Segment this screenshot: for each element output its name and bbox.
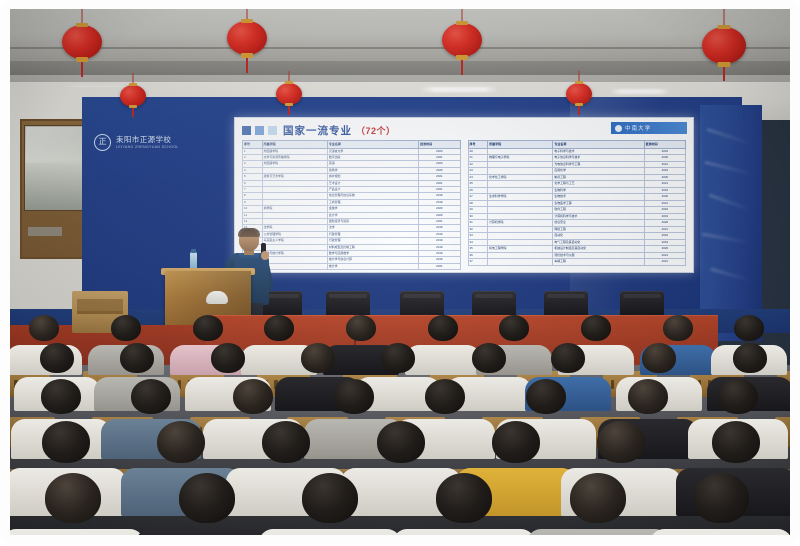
audience-member-head — [120, 343, 154, 373]
audience-member-head — [733, 343, 767, 373]
door-push-plate[interactable] — [28, 227, 62, 236]
audience-member-shoulders — [405, 345, 481, 375]
audience-member-head — [663, 315, 693, 341]
audience-member-head — [179, 473, 235, 523]
cell-college — [262, 263, 327, 269]
audience-member-head — [45, 473, 101, 523]
audience-member-head — [436, 473, 492, 523]
audience-member-head — [211, 343, 245, 373]
col-college: 所属学院 — [488, 141, 553, 149]
col-year: 批准时间 — [644, 141, 685, 149]
chair-slot — [611, 380, 614, 389]
audience-member-head — [570, 473, 626, 523]
projection-screen: 国家一流专业 （72个） 中南大学 序号 所属学院 专业名称 批准时间 — [234, 117, 694, 273]
audience-member-head — [718, 379, 758, 414]
ceiling-light-strip — [610, 89, 670, 94]
school-logo-en: LEIYANG ZHENGYUAN SCHOOL — [116, 144, 179, 150]
school-logo: 正 耒阳市正源学校 LEIYANG ZHENGYUAN SCHOOL — [94, 129, 204, 155]
col-college: 所属学院 — [262, 141, 327, 149]
audience-member-head — [526, 379, 566, 414]
audience-member-head — [41, 379, 81, 414]
audience-member-head — [499, 315, 529, 341]
col-major: 专业名称 — [327, 141, 418, 149]
table-header-row: 序号 所属学院 专业名称 批准时间 — [243, 141, 461, 149]
audience-member-head — [111, 315, 141, 341]
cell-major: 车辆工程 — [553, 259, 644, 266]
blue-curtain-panel — [700, 105, 762, 341]
audience-member-head — [29, 315, 59, 341]
table-header-row: 序号 所属学院 专业名称 批准时间 — [468, 141, 686, 149]
slide-tables: 序号 所属学院 专业名称 批准时间 1外国语学院汉语言文学20202文学与新闻传… — [242, 140, 686, 266]
audience-member-head — [581, 315, 611, 341]
col-index: 序号 — [243, 141, 263, 149]
audience-member-head — [472, 343, 506, 373]
table-row: 19统计学2021 — [243, 263, 461, 269]
audience-member-shoulders — [393, 529, 535, 535]
audience — [10, 309, 790, 535]
red-lantern — [120, 83, 146, 117]
audience-member-head — [492, 421, 540, 463]
audience-member-shoulders — [136, 529, 278, 535]
audience-member-head — [157, 421, 205, 463]
speaker-hand — [261, 251, 269, 260]
red-lantern — [62, 23, 102, 79]
slide-title: 国家一流专业 — [283, 123, 352, 138]
audience-member-shoulders — [10, 529, 144, 535]
audience-member-shoulders — [259, 529, 401, 535]
ceiling-beam — [10, 61, 790, 75]
audience-member-head — [233, 379, 273, 414]
speaker-hair — [238, 228, 260, 237]
red-lantern — [227, 19, 267, 75]
cell-year: 2021 — [644, 259, 685, 266]
audience-member-head — [642, 343, 676, 373]
cell-index: 37 — [468, 259, 488, 266]
auditorium-photo: 正 耒阳市正源学校 LEIYANG ZHENGYUAN SCHOOL 国家一流专… — [10, 9, 790, 535]
table-body-left: 1外国语学院汉语言文学20202文学与新闻传播学院数字出版20213外国语学院英… — [243, 148, 461, 270]
ceiling-light-strip — [420, 87, 498, 92]
bottle-cap — [191, 249, 196, 253]
school-logo-mark-icon: 正 — [94, 134, 111, 151]
audience-member-shoulders — [650, 529, 790, 535]
title-square-icon — [268, 126, 277, 135]
wall-shadow — [10, 75, 790, 82]
audience-member-head — [377, 421, 425, 463]
slide-title-row: 国家一流专业 （72个） 中南大学 — [242, 123, 686, 137]
university-logo: 中南大学 — [611, 122, 687, 134]
university-logo-text: 中南大学 — [625, 124, 651, 132]
audience-member-head — [193, 315, 223, 341]
white-cap — [206, 291, 228, 304]
audience-member-head — [301, 343, 335, 373]
majors-table-right: 序号 所属学院 专业名称 批准时间 20电子科学与技术201921物理与电子学院… — [468, 140, 687, 266]
university-seal-icon — [615, 125, 622, 132]
red-lantern — [276, 81, 302, 115]
col-year: 批准时间 — [419, 141, 460, 149]
audience-member-head — [693, 473, 749, 523]
school-logo-cn: 耒阳市正源学校 — [116, 135, 179, 144]
audience-member-head — [628, 379, 668, 414]
majors-table-left: 序号 所属学院 专业名称 批准时间 1外国语学院汉语言文学20202文学与新闻传… — [242, 140, 461, 270]
ceiling-seam — [10, 47, 790, 49]
title-square-icon — [255, 126, 264, 135]
red-lantern — [566, 81, 592, 115]
red-lantern — [442, 21, 482, 77]
audience-member-head — [381, 343, 415, 373]
audience-member-head — [262, 421, 310, 463]
col-major: 专业名称 — [553, 141, 644, 149]
audience-member-head — [425, 379, 465, 414]
col-index: 序号 — [468, 141, 488, 149]
audience-member-head — [42, 421, 90, 463]
slide-count-label: （72个） — [356, 124, 396, 137]
audience-member-head — [428, 315, 458, 341]
title-square-icon — [242, 126, 251, 135]
audience-member-head — [597, 421, 645, 463]
slide: 国家一流专业 （72个） 中南大学 序号 所属学院 专业名称 批准时间 — [235, 118, 693, 272]
cell-major: 统计学 — [327, 263, 418, 269]
audience-member-head — [40, 343, 74, 373]
audience-member-head — [734, 315, 764, 341]
table-body-right: 20电子科学与技术201921物理与电子学院电子信息科学与技术202022光电信… — [468, 148, 686, 266]
cell-college — [488, 259, 553, 266]
audience-member-head — [334, 379, 374, 414]
red-lantern — [702, 25, 746, 83]
audience-member-head — [551, 343, 585, 373]
door-window-glare — [26, 127, 82, 163]
audience-member-head — [346, 315, 376, 341]
audience-member-head — [302, 473, 358, 523]
audience-member-shoulders — [527, 529, 669, 535]
audience-member-head — [264, 315, 294, 341]
audience-member-head — [131, 379, 171, 414]
photo-frame: 正 耒阳市正源学校 LEIYANG ZHENGYUAN SCHOOL 国家一流专… — [0, 0, 800, 546]
cell-year: 2021 — [419, 263, 460, 269]
audience-member-head — [712, 421, 760, 463]
table-row: 37车辆工程2021 — [468, 259, 686, 266]
